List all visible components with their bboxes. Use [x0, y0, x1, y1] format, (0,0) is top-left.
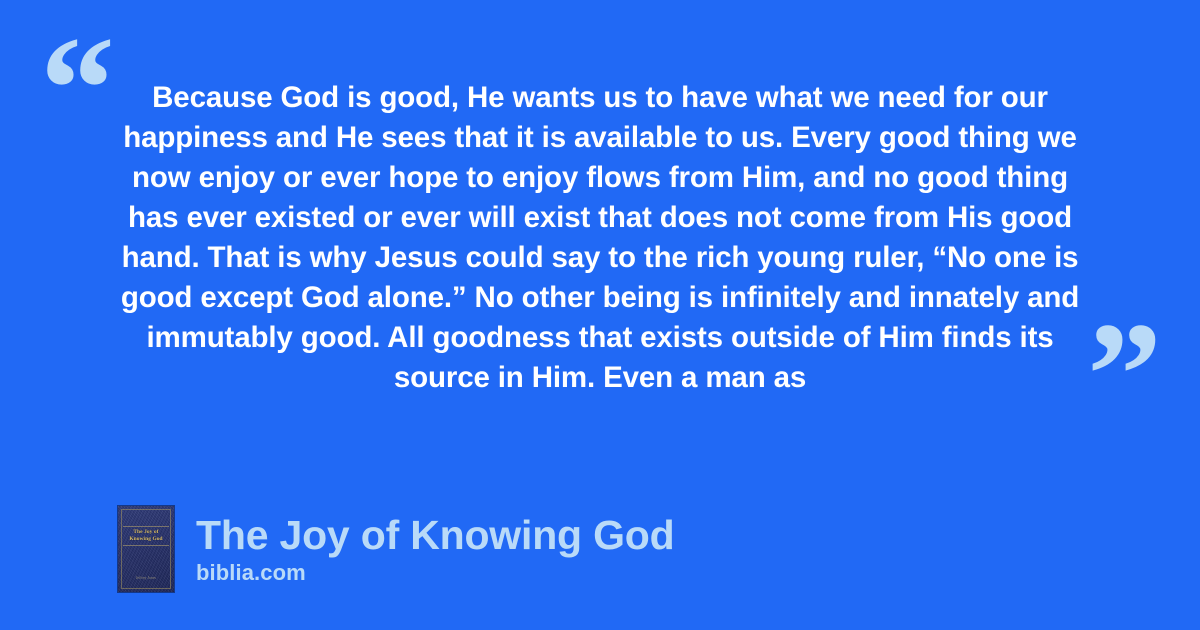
attribution-footer: The Joy of Knowing God Jeffrey Jones The… — [118, 506, 674, 592]
quote-card: “ Because God is good, He wants us to ha… — [0, 0, 1200, 630]
book-cover-thumbnail: The Joy of Knowing God Jeffrey Jones — [118, 506, 174, 592]
site-name: biblia.com — [196, 560, 674, 586]
book-cover-author: Jeffrey Jones — [123, 576, 169, 581]
attribution-text: The Joy of Knowing God biblia.com — [196, 512, 674, 586]
closing-quote-icon: ” — [1087, 300, 1162, 450]
book-cover-title-line-2: Knowing God — [129, 536, 162, 542]
book-cover-title: The Joy of Knowing God — [123, 526, 169, 546]
book-title: The Joy of Knowing God — [196, 512, 674, 558]
quote-block: Because God is good, He wants us to have… — [108, 78, 1092, 398]
opening-quote-icon: “ — [40, 14, 115, 164]
quote-text: Because God is good, He wants us to have… — [108, 78, 1092, 398]
book-cover-title-line-1: The Joy of — [133, 529, 158, 535]
